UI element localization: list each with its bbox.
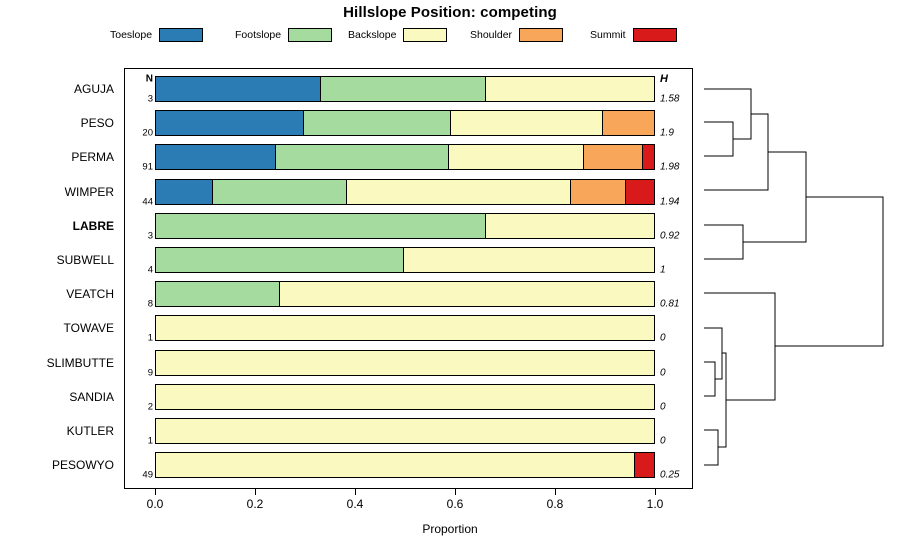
h-value-towave: 0 <box>660 333 694 344</box>
x-axis-tick <box>555 489 556 495</box>
bar-segment-backslope <box>156 419 654 443</box>
n-value-kutler: 1 <box>129 436 153 447</box>
legend-item-footslope: Footslope <box>235 26 332 44</box>
h-value-labre: 0.92 <box>660 230 694 241</box>
legend-label: Footslope <box>235 29 281 41</box>
x-axis-title: Proportion <box>0 522 900 536</box>
x-axis-tick-label: 1.0 <box>625 497 685 511</box>
h-value-perma: 1.98 <box>660 162 694 173</box>
row-label-towave: TOWAVE <box>64 321 114 335</box>
table-row <box>155 144 655 170</box>
bar-segment-backslope <box>485 77 654 101</box>
table-row <box>155 350 655 376</box>
legend-item-shoulder: Shoulder <box>470 26 563 44</box>
table-row <box>155 76 655 102</box>
table-row <box>155 315 655 341</box>
bar-segment-toeslope <box>156 111 303 135</box>
table-row <box>155 110 655 136</box>
n-value-towave: 1 <box>129 333 153 344</box>
legend-swatch <box>519 28 563 42</box>
row-label-sandia: SANDIA <box>69 390 114 404</box>
bar-segment-backslope <box>403 248 654 272</box>
legend-swatch <box>403 28 447 42</box>
x-axis-tick <box>355 489 356 495</box>
bar-segment-shoulder <box>583 145 641 169</box>
x-axis-tick-label: 0.2 <box>225 497 285 511</box>
bar-segment-footslope <box>156 282 279 306</box>
legend-swatch <box>288 28 332 42</box>
bar-segment-toeslope <box>156 180 212 204</box>
n-value-subwell: 4 <box>129 265 153 276</box>
row-label-aguja: AGUJA <box>74 82 114 96</box>
legend-label: Backslope <box>348 29 396 41</box>
x-axis-tick-label: 0.4 <box>325 497 385 511</box>
table-row <box>155 384 655 410</box>
n-value-sandia: 2 <box>129 401 153 412</box>
legend-item-summit: Summit <box>590 26 677 44</box>
bar-segment-toeslope <box>156 77 320 101</box>
bar-segment-backslope <box>279 282 654 306</box>
bar-segment-shoulder <box>570 180 625 204</box>
bar-segment-backslope <box>156 385 654 409</box>
bar-segment-shoulder <box>602 111 654 135</box>
legend-swatch <box>633 28 677 42</box>
n-value-perma: 91 <box>129 162 153 173</box>
bar-segment-footslope <box>275 145 448 169</box>
h-value-slimbutte: 0 <box>660 367 694 378</box>
x-axis-tick-label: 0.0 <box>125 497 185 511</box>
row-label-perma: PERMA <box>71 150 114 164</box>
h-value-kutler: 0 <box>660 436 694 447</box>
n-value-pesowyo: 49 <box>129 470 153 481</box>
legend: ToeslopeFootslopeBackslopeShoulderSummit <box>110 26 810 46</box>
bar-segment-toeslope <box>156 145 275 169</box>
n-column-header: N <box>129 74 153 85</box>
table-row <box>155 452 655 478</box>
bar-segment-footslope <box>212 180 345 204</box>
table-row <box>155 281 655 307</box>
bar-segment-backslope <box>450 111 602 135</box>
row-label-veatch: VEATCH <box>66 287 114 301</box>
x-axis-tick <box>455 489 456 495</box>
table-row <box>155 179 655 205</box>
h-value-pesowyo: 0.25 <box>660 470 694 481</box>
h-column-header: H <box>660 73 694 85</box>
legend-label: Toeslope <box>110 29 152 41</box>
bar-segment-summit <box>625 180 654 204</box>
bar-segment-summit <box>634 453 654 477</box>
legend-label: Summit <box>590 29 626 41</box>
bar-segment-footslope <box>156 214 485 238</box>
x-axis-tick <box>655 489 656 495</box>
row-label-subwell: SUBWELL <box>57 253 114 267</box>
x-axis-tick-label: 0.6 <box>425 497 485 511</box>
dendrogram-svg <box>693 60 900 500</box>
n-value-veatch: 8 <box>129 299 153 310</box>
legend-item-toeslope: Toeslope <box>110 26 203 44</box>
h-value-sandia: 0 <box>660 401 694 412</box>
row-label-kutler: KUTLER <box>67 424 114 438</box>
table-row <box>155 213 655 239</box>
bar-segment-footslope <box>320 77 484 101</box>
x-axis-tick <box>255 489 256 495</box>
bar-segment-backslope <box>156 351 654 375</box>
bar-segment-backslope <box>346 180 570 204</box>
page-title: Hillslope Position: competing <box>0 4 900 21</box>
row-label-slimbutte: SLIMBUTTE <box>47 356 114 370</box>
row-label-pesowyo: PESOWYO <box>52 458 114 472</box>
legend-label: Shoulder <box>470 29 512 41</box>
bar-segment-backslope <box>156 453 634 477</box>
bar-segment-backslope <box>156 316 654 340</box>
table-row <box>155 418 655 444</box>
h-value-subwell: 1 <box>660 265 694 276</box>
n-value-peso: 20 <box>129 128 153 139</box>
dendrogram <box>693 60 900 500</box>
n-value-wimper: 44 <box>129 196 153 207</box>
n-value-slimbutte: 9 <box>129 367 153 378</box>
row-label-peso: PESO <box>81 116 114 130</box>
table-row <box>155 247 655 273</box>
h-value-veatch: 0.81 <box>660 299 694 310</box>
bar-segment-backslope <box>485 214 654 238</box>
bar-segment-footslope <box>303 111 450 135</box>
bar-segment-footslope <box>156 248 403 272</box>
bar-segment-backslope <box>448 145 583 169</box>
bar-segment-summit <box>642 145 654 169</box>
legend-swatch <box>159 28 203 42</box>
row-label-wimper: WIMPER <box>65 185 114 199</box>
h-value-wimper: 1.94 <box>660 196 694 207</box>
n-value-aguja: 3 <box>129 94 153 105</box>
x-axis-tick <box>155 489 156 495</box>
x-axis-tick-label: 0.8 <box>525 497 585 511</box>
h-value-aguja: 1.58 <box>660 94 694 105</box>
row-label-labre: LABRE <box>73 219 114 233</box>
h-value-peso: 1.9 <box>660 128 694 139</box>
legend-item-backslope: Backslope <box>348 26 447 44</box>
n-value-labre: 3 <box>129 230 153 241</box>
